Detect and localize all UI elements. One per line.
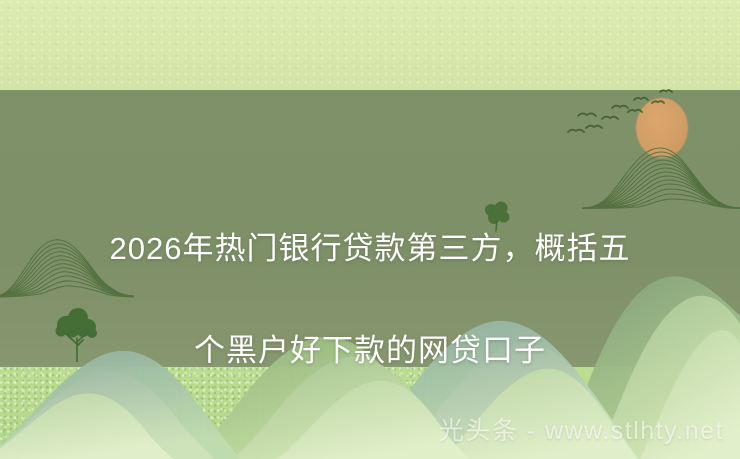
poster-canvas: 2026年热门银行贷款第三方，概括五 个黑户好下款的网贷口子 光头条 - www…: [0, 0, 740, 459]
poster-title-line-2: 个黑户好下款的网贷口子: [0, 325, 740, 376]
poster-title-line-1: 2026年热门银行贷款第三方，概括五: [0, 223, 740, 274]
background-grain-top: [0, 0, 740, 90]
poster-title: 2026年热门银行贷款第三方，概括五 个黑户好下款的网贷口子: [0, 172, 740, 427]
site-watermark: 光头条 - www.stlhty.net: [439, 411, 724, 447]
